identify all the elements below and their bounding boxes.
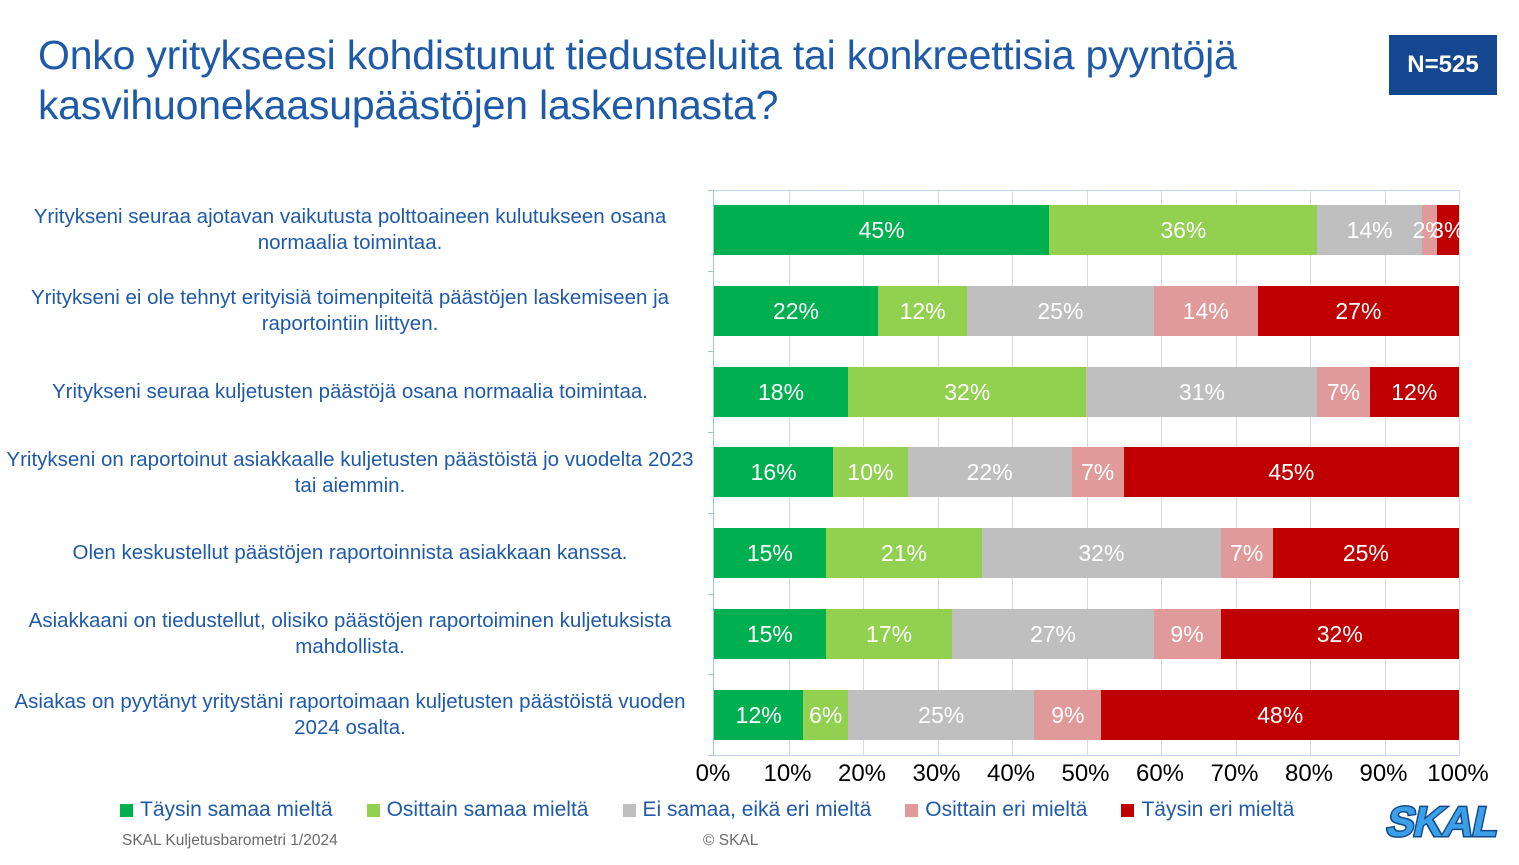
bar-segment-label: 32% — [944, 379, 990, 406]
bar-segment: 25% — [1273, 528, 1459, 578]
bar-segment: 7% — [1317, 367, 1369, 417]
legend-swatch-icon — [367, 804, 380, 817]
y-axis-tick — [708, 513, 714, 514]
bar-segment-label: 45% — [1268, 459, 1314, 486]
x-axis-label: 10% — [748, 760, 828, 788]
gridline — [1459, 190, 1460, 755]
x-axis-label: 30% — [897, 760, 977, 788]
bar-segment-label: 12% — [736, 702, 782, 729]
title-block: Onko yritykseesi kohdistunut tiedustelui… — [38, 30, 1348, 130]
bar-segment-label: 7% — [1327, 379, 1360, 406]
x-axis-label: 70% — [1195, 760, 1275, 788]
category-label-text: Asiakkaani on tiedustellut, olisiko pääs… — [0, 608, 700, 660]
category-label-text: Yritykseni seuraa kuljetusten päästöjä o… — [52, 379, 648, 405]
bar-segment-label: 15% — [747, 621, 793, 648]
x-axis-label: 60% — [1120, 760, 1200, 788]
bar-row: 18%32%31%7%12% — [714, 367, 1459, 417]
bar-segment-label: 10% — [847, 459, 893, 486]
category-label: Yritykseni on raportoinut asiakkaalle ku… — [0, 438, 700, 508]
skal-logo-icon: SKAL — [1382, 792, 1512, 854]
category-label-text: Yritykseni ei ole tehnyt erityisiä toime… — [0, 285, 700, 337]
legend-swatch-icon — [905, 804, 918, 817]
x-axis-label: 20% — [822, 760, 902, 788]
x-axis-label: 90% — [1344, 760, 1424, 788]
legend-label: Osittain eri mieltä — [925, 798, 1087, 822]
bar-segment: 45% — [714, 205, 1049, 255]
bar-segment-label: 25% — [1343, 540, 1389, 567]
legend-label: Täysin eri mieltä — [1141, 798, 1294, 822]
category-label-text: Yritykseni seuraa ajotavan vaikutusta po… — [0, 204, 700, 256]
bar-segment-label: 12% — [1391, 379, 1437, 406]
bar-segment: 12% — [878, 286, 967, 336]
y-axis-tick — [708, 351, 714, 352]
y-axis-tick — [708, 674, 714, 675]
bar-row: 45%36%14%2%3% — [714, 205, 1459, 255]
bar-segment: 12% — [1370, 367, 1459, 417]
chart-legend: Täysin samaa mieltäOsittain samaa mieltä… — [120, 798, 1328, 822]
bar-segment-label: 22% — [773, 298, 819, 325]
category-label: Yritykseni seuraa kuljetusten päästöjä o… — [0, 357, 700, 427]
bar-segment-label: 6% — [809, 702, 842, 729]
bar-segment-label: 9% — [1051, 702, 1084, 729]
bar-segment-label: 7% — [1230, 540, 1263, 567]
category-label: Asiakas on pyytänyt yritystäni raportoim… — [0, 680, 700, 750]
bar-segment: 17% — [826, 609, 953, 659]
category-label: Olen keskustellut päästöjen raportoinnis… — [0, 518, 700, 588]
bar-row: 12%6%25%9%48% — [714, 690, 1459, 740]
bar-row: 22%12%25%14%27% — [714, 286, 1459, 336]
bar-segment-label: 21% — [881, 540, 927, 567]
legend-item[interactable]: Täysin eri mieltä — [1121, 798, 1294, 822]
page-title: Onko yritykseesi kohdistunut tiedustelui… — [38, 30, 1348, 130]
bar-segment: 45% — [1124, 447, 1459, 497]
bar-segment-label: 48% — [1257, 702, 1303, 729]
bar-row: 15%21%32%7%25% — [714, 528, 1459, 578]
bar-segment: 27% — [952, 609, 1153, 659]
y-axis-tick — [708, 594, 714, 595]
category-label-text: Asiakas on pyytänyt yritystäni raportoim… — [0, 689, 700, 741]
x-axis-label: 100% — [1418, 760, 1498, 788]
category-label: Yritykseni ei ole tehnyt erityisiä toime… — [0, 276, 700, 346]
svg-text:SKAL: SKAL — [1383, 798, 1503, 844]
legend-swatch-icon — [623, 804, 636, 817]
y-axis-tick — [708, 271, 714, 272]
bar-segment-label: 36% — [1160, 217, 1206, 244]
bar-segment-label: 32% — [1078, 540, 1124, 567]
bar-segment: 31% — [1086, 367, 1317, 417]
sample-size-label: N=525 — [1407, 51, 1478, 79]
bar-segment-label: 15% — [747, 540, 793, 567]
x-axis-label: 80% — [1269, 760, 1349, 788]
bar-segment-label: 22% — [967, 459, 1013, 486]
legend-label: Ei samaa, eikä eri mieltä — [643, 798, 872, 822]
bar-segment: 48% — [1101, 690, 1459, 740]
bar-segment: 15% — [714, 609, 826, 659]
y-axis-tick — [708, 755, 714, 756]
bar-segment: 27% — [1258, 286, 1459, 336]
bar-segment-label: 12% — [900, 298, 946, 325]
legend-item[interactable]: Osittain eri mieltä — [905, 798, 1087, 822]
x-axis-label: 40% — [971, 760, 1051, 788]
bar-segment-label: 31% — [1179, 379, 1225, 406]
category-label: Asiakkaani on tiedustellut, olisiko pääs… — [0, 599, 700, 669]
bar-segment-label: 27% — [1335, 298, 1381, 325]
bar-segment-label: 32% — [1317, 621, 1363, 648]
category-label: Yritykseni seuraa ajotavan vaikutusta po… — [0, 195, 700, 265]
bar-segment: 22% — [908, 447, 1072, 497]
bar-segment: 6% — [803, 690, 848, 740]
bar-segment: 25% — [967, 286, 1153, 336]
legend-swatch-icon — [1121, 804, 1134, 817]
bar-segment: 22% — [714, 286, 878, 336]
bar-segment: 7% — [1221, 528, 1273, 578]
plot-bottom-border — [713, 755, 1459, 756]
bar-segment: 36% — [1049, 205, 1317, 255]
legend-item[interactable]: Osittain samaa mieltä — [367, 798, 589, 822]
bar-segment: 2% — [1422, 205, 1437, 255]
skal-logo: SKAL — [1382, 792, 1512, 854]
bar-segment-label: 27% — [1030, 621, 1076, 648]
legend-label: Täysin samaa mieltä — [140, 798, 333, 822]
footer-source: SKAL Kuljetusbarometri 1/2024 — [122, 832, 338, 850]
y-axis-tick — [708, 190, 714, 191]
bar-segment: 9% — [1034, 690, 1101, 740]
bar-segment-label: 25% — [918, 702, 964, 729]
bar-segment-label: 25% — [1037, 298, 1083, 325]
bar-segment: 18% — [714, 367, 848, 417]
bar-segment: 25% — [848, 690, 1034, 740]
footer-copyright: © SKAL — [703, 832, 758, 850]
bar-row: 16%10%22%7%45% — [714, 447, 1459, 497]
bar-segment: 32% — [848, 367, 1086, 417]
bar-segment-label: 7% — [1081, 459, 1114, 486]
x-axis-label: 50% — [1046, 760, 1126, 788]
bar-segment-label: 17% — [866, 621, 912, 648]
sample-size-badge: N=525 — [1389, 35, 1497, 95]
bar-segment: 14% — [1154, 286, 1258, 336]
bar-segment: 16% — [714, 447, 833, 497]
bar-segment: 32% — [982, 528, 1220, 578]
category-label-text: Olen keskustellut päästöjen raportoinnis… — [73, 540, 628, 566]
legend-item[interactable]: Ei samaa, eikä eri mieltä — [623, 798, 872, 822]
bar-segment: 14% — [1317, 205, 1421, 255]
legend-label: Osittain samaa mieltä — [387, 798, 589, 822]
bar-segment-label: 18% — [758, 379, 804, 406]
legend-item[interactable]: Täysin samaa mieltä — [120, 798, 333, 822]
bar-segment-label: 9% — [1170, 621, 1203, 648]
bar-segment: 3% — [1437, 205, 1459, 255]
bar-segment: 7% — [1072, 447, 1124, 497]
y-axis-tick — [708, 432, 714, 433]
bar-segment-label: 45% — [859, 217, 905, 244]
bar-segment: 12% — [714, 690, 803, 740]
bar-segment-label: 16% — [751, 459, 797, 486]
x-axis-label: 0% — [673, 760, 753, 788]
bar-segment: 15% — [714, 528, 826, 578]
bar-segment-label: 14% — [1347, 217, 1393, 244]
bar-segment: 32% — [1221, 609, 1459, 659]
bar-row: 15%17%27%9%32% — [714, 609, 1459, 659]
bar-segment: 10% — [833, 447, 908, 497]
bar-segment-label: 14% — [1183, 298, 1229, 325]
bar-segment: 9% — [1154, 609, 1221, 659]
chart-plot-area: 45%36%14%2%3%22%12%25%14%27%18%32%31%7%1… — [713, 190, 1459, 755]
category-label-text: Yritykseni on raportoinut asiakkaalle ku… — [0, 447, 700, 499]
bar-segment: 21% — [826, 528, 982, 578]
legend-swatch-icon — [120, 804, 133, 817]
